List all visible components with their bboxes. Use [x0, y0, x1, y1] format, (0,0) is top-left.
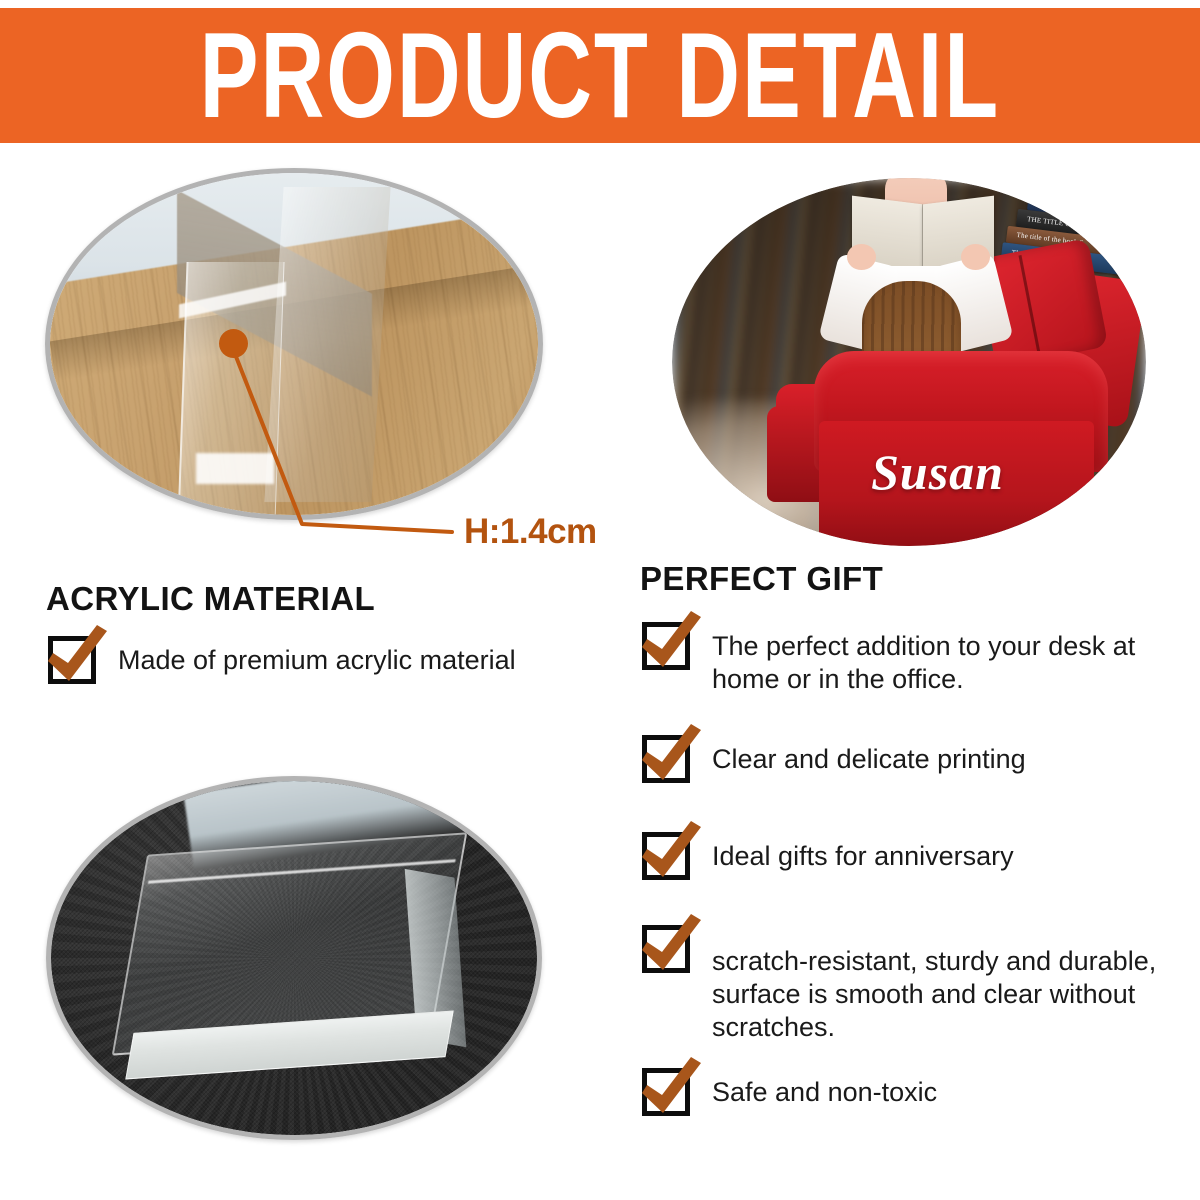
- photo-perfect-gift: The title of the book 4 THE TITLE OF THE…: [672, 178, 1146, 546]
- photo-acrylic-slab: [46, 776, 542, 1140]
- feature-text: Made of premium acrylic material: [118, 636, 516, 677]
- feature-row-acrylic-material: Made of premium acrylic material: [48, 636, 608, 684]
- height-label: H:1.4cm: [464, 512, 597, 552]
- photo-perfect-gift-image: The title of the book 4 THE TITLE OF THE…: [672, 178, 1146, 546]
- checkbox-gift-1[interactable]: [642, 622, 690, 670]
- feature-row-gift-5: Safe and non-toxic: [642, 1068, 1172, 1116]
- product-detail-infographic: PRODUCT DETAIL H:1.4cm The title of the …: [0, 0, 1200, 1200]
- feature-text: Safe and non-toxic: [712, 1068, 937, 1109]
- feature-row-gift-1: The perfect addition to your desk at hom…: [642, 622, 1172, 696]
- checkbox-acrylic-material[interactable]: [48, 636, 96, 684]
- personalized-name: Susan: [871, 443, 1004, 501]
- feature-text: Clear and delicate printing: [712, 735, 1026, 776]
- section-heading-acrylic-material: ACRYLIC MATERIAL: [46, 580, 375, 618]
- feature-row-gift-4: scratch-resistant, sturdy and durable, s…: [642, 925, 1182, 1044]
- feature-text: The perfect addition to your desk at hom…: [712, 622, 1172, 696]
- section-heading-perfect-gift: PERFECT GIFT: [640, 560, 883, 598]
- hand-right: [961, 244, 989, 270]
- checkbox-gift-3[interactable]: [642, 832, 690, 880]
- checkbox-gift-4[interactable]: [642, 925, 690, 973]
- feature-text: Ideal gifts for anniversary: [712, 832, 1014, 873]
- photo-acrylic-slab-image: [51, 781, 537, 1135]
- checkbox-gift-5[interactable]: [642, 1068, 690, 1116]
- feature-row-gift-2: Clear and delicate printing: [642, 735, 1172, 783]
- feature-text: scratch-resistant, sturdy and durable, s…: [712, 925, 1182, 1044]
- checkbox-gift-2[interactable]: [642, 735, 690, 783]
- hand-left: [847, 244, 875, 270]
- feature-row-gift-3: Ideal gifts for anniversary: [642, 832, 1172, 880]
